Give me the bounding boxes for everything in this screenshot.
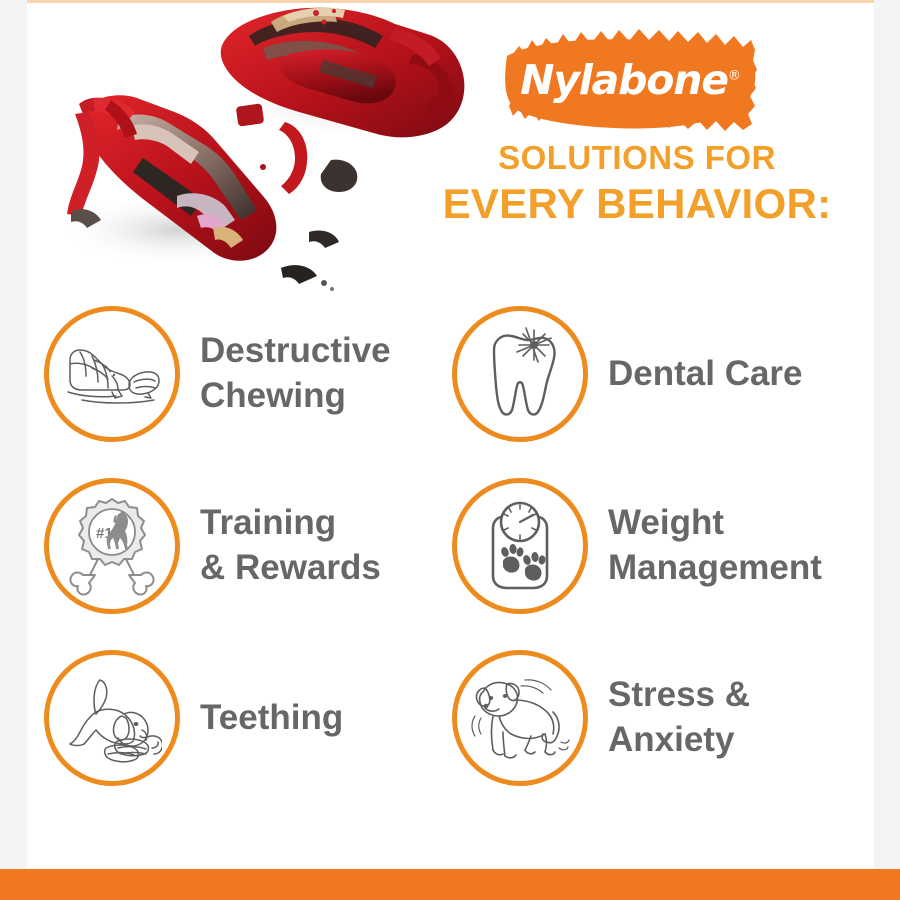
registered-trademark-icon: ® (728, 68, 741, 83)
benefit-item-destructive-chewing[interactable]: Destructive Chewing (27, 288, 435, 460)
benefit-icon-circle (44, 306, 180, 442)
headline-line-1: SOLUTIONS FOR (400, 140, 874, 176)
benefit-icon-circle: #1 (44, 478, 180, 614)
puppy-chewing-bone-icon (62, 672, 162, 764)
benefit-item-training-and-rewards[interactable]: #1 Training & Rewards (27, 460, 435, 632)
benefit-label: Stress & Anxiety (608, 673, 750, 763)
benefit-item-weight-management[interactable]: Weight Management (435, 460, 874, 632)
benefit-item-teething[interactable]: Teething (27, 632, 435, 804)
benefit-item-dental-care[interactable]: Dental Care (435, 288, 874, 460)
benefit-item-stress-and-anxiety[interactable]: Stress & Anxiety (435, 632, 874, 804)
nylabone-logo: Nylabone® (505, 26, 760, 141)
benefit-label: Training & Rewards (200, 501, 381, 591)
logo-wordmark: Nylabone® (505, 26, 760, 141)
headline-line-2: EVERY BEHAVIOR: (400, 180, 874, 227)
benefit-icon-circle (452, 306, 588, 442)
left-page-gutter (0, 0, 27, 900)
top-divider-rule (27, 0, 874, 3)
award-ribbon-number-one-dog-icon: #1 (65, 495, 159, 597)
chewed-shoe-icon (62, 338, 162, 410)
right-page-gutter (874, 0, 900, 900)
sparkling-tooth-icon (476, 326, 564, 422)
benefit-icon-circle (452, 650, 588, 786)
bottom-accent-band (0, 869, 900, 900)
logo-brand-name: Nylabone (520, 56, 728, 104)
benefit-icon-circle (44, 650, 180, 786)
benefit-label: Weight Management (608, 501, 822, 591)
promo-page: Nylabone® SOLUTIONS FOR EVERY BEHAVIOR: (0, 0, 900, 900)
benefit-icon-circle (452, 478, 588, 614)
benefit-label: Destructive Chewing (200, 329, 391, 419)
bathroom-scale-paw-prints-icon (475, 498, 565, 594)
benefit-label: Teething (200, 696, 343, 741)
headline-block: SOLUTIONS FOR EVERY BEHAVIOR: (400, 140, 874, 227)
benefit-label: Dental Care (608, 352, 803, 397)
benefits-grid: Destructive Chewing (27, 288, 874, 804)
anxious-shaking-dog-icon (469, 672, 571, 764)
